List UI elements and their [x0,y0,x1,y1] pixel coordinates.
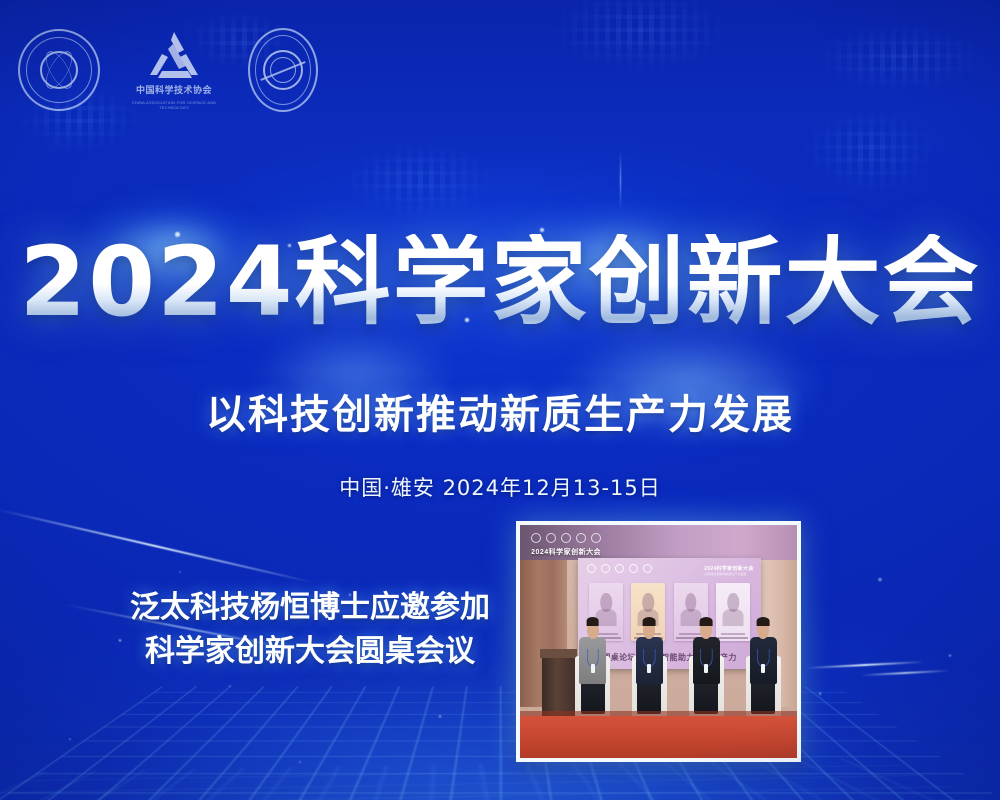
main-title-area: 2024科学家创新大会 [0,234,1000,330]
conference-poster: 中国科学技术协会 CHINA ASSOCIATION FOR SCIENCE A… [0,0,1000,800]
cast-triangle-icon [146,30,202,82]
conference-photo: 2024科学家创新大会 2024科学家创新大会 以科技创新推动新质生产力发展 [516,521,801,762]
cast-wordmark-sub: CHINA ASSOCIATION FOR SCIENCE AND TECHNO… [128,100,220,110]
panelist [686,609,726,716]
event-caption: 泛太科技杨恒博士应邀参加 科学家创新大会圆桌会议 [130,586,490,673]
light-streak [620,150,621,210]
organizer-seal-right-icon [248,28,318,112]
screen-logo-icons [587,564,652,573]
cast-wordmark: 中国科学技术协会 [136,86,212,95]
photo-banner-logo-icons [531,533,601,543]
organizer-logo-row: 中国科学技术协会 CHINA ASSOCIATION FOR SCIENCE A… [18,28,318,112]
screen-brand: 2024科学家创新大会 以科技创新推动新质生产力发展 [704,565,753,576]
photo-banner-title: 2024科学家创新大会 [531,547,601,557]
cast-logo-icon: 中国科学技术协会 CHINA ASSOCIATION FOR SCIENCE A… [128,30,220,109]
photo-podium [542,653,575,718]
caption-line-2: 科学家创新大会圆桌会议 [130,630,490,674]
photo-panelists [573,609,784,716]
caption-line-1: 泛太科技杨恒博士应邀参加 [130,590,490,625]
event-location-date: 中国·雄安 2024年12月13-15日 [0,472,1000,502]
panelist [629,609,669,716]
photo-stage-floor [520,716,797,758]
panelist [573,609,613,716]
page-subtitle: 以科技创新推动新质生产力发展 [0,382,1000,440]
panelist [743,609,783,716]
page-title: 2024科学家创新大会 [19,234,980,330]
organizer-seal-left-icon [18,29,100,111]
screen-brand-subtitle: 以科技创新推动新质生产力发展 [704,572,753,576]
